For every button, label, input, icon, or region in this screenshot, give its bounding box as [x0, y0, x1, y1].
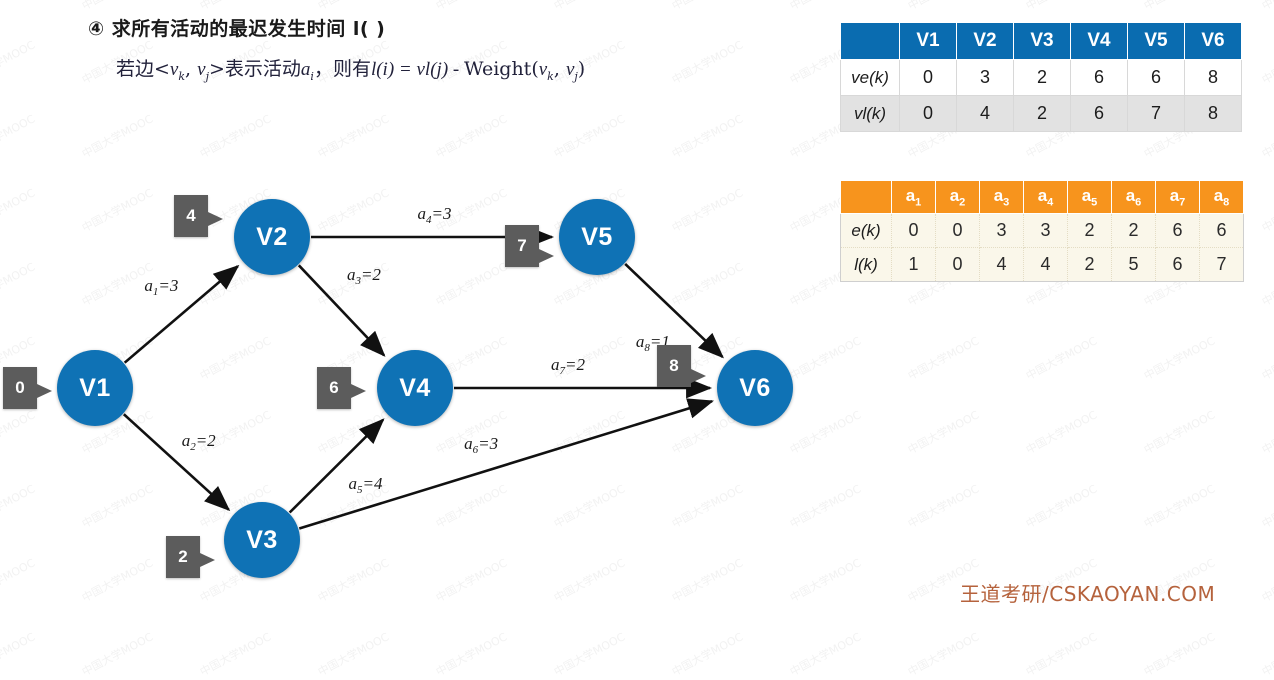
table-cell: 2: [1014, 60, 1071, 96]
table-cell: 4: [980, 248, 1024, 282]
table-cell: 0: [936, 248, 980, 282]
table-ve-vl-col-v2: V2: [957, 23, 1014, 60]
graph-badge-value: 2: [178, 547, 187, 567]
graph-node-label: V2: [256, 223, 288, 252]
graph-edge-label-a3: a3=2: [347, 265, 381, 287]
table-cell: 0: [900, 96, 957, 132]
table-e-l-col-a5: a5: [1068, 181, 1112, 214]
watermark-text: 中国大学MOOC: [1023, 333, 1100, 384]
table-e-l-body: e(k)00332266l(k)10442567: [841, 214, 1244, 282]
watermark-text: 中国大学MOOC: [1023, 481, 1100, 532]
table-e-l-col-a2: a2: [936, 181, 980, 214]
watermark-text: 中国大学MOOC: [0, 629, 38, 680]
edge-label-weight: =3: [432, 204, 452, 223]
table-row: ve(k)032668: [841, 60, 1242, 96]
edge-label-name: a: [636, 332, 645, 351]
formula-weight: Weight(: [464, 58, 539, 80]
branding-text: 王道考研/CSKAOYAN.COM: [960, 578, 1215, 607]
formula-j: (j) -: [430, 59, 464, 80]
watermark-text: 中国大学MOOC: [787, 629, 864, 680]
col-sub: 6: [1135, 196, 1141, 208]
formula-i: (i) =: [376, 59, 416, 80]
table-ve-vl-rowhead: ve(k): [841, 60, 900, 96]
formula-w-v1: v: [539, 59, 547, 80]
edge-label-name: a: [182, 431, 191, 450]
table-cell: 0: [936, 214, 980, 248]
edge-label-weight: =2: [196, 431, 216, 450]
graph-badge-value: 7: [517, 236, 526, 256]
table-ve-vl-corner: [841, 23, 900, 60]
edge-label-weight: =2: [361, 265, 381, 284]
table-ve-vl-col-v6: V6: [1185, 23, 1242, 60]
graph-badge-v4: 6: [317, 367, 351, 409]
table-e-l-col-a1: a1: [892, 181, 936, 214]
formula-a: a: [301, 59, 311, 80]
graph-edge-label-a6: a6=3: [464, 434, 498, 456]
edge-label-name: a: [349, 474, 358, 493]
graph-node-v1[interactable]: V1: [57, 350, 133, 426]
watermark-text: 中国大学MOOC: [905, 0, 982, 13]
watermark-text: 中国大学MOOC: [1023, 629, 1100, 680]
table-cell: 6: [1128, 60, 1185, 96]
watermark-text: 中国大学MOOC: [1141, 407, 1218, 458]
table-ve-vl-col-v4: V4: [1071, 23, 1128, 60]
formula-vj: v: [197, 59, 205, 80]
graph-edge-label-a2: a2=2: [182, 431, 216, 453]
edge-label-name: a: [464, 434, 473, 453]
graph-node-v3[interactable]: V3: [224, 502, 300, 578]
table-row: e(k)00332266: [841, 214, 1244, 248]
graph-edge-a2: [124, 414, 229, 509]
col-base: a: [994, 186, 1003, 205]
col-sub: 3: [1003, 196, 1009, 208]
heading-block: ④ 求所有活动的最迟发生时间 l( ) 若边<vk, vj>表示活动ai，则有l…: [88, 14, 585, 83]
table-cell: 6: [1200, 214, 1244, 248]
edge-label-name: a: [144, 275, 153, 294]
table-cell: 6: [1156, 214, 1200, 248]
table-cell: 6: [1156, 248, 1200, 282]
table-ve-vl: V1V2V3V4V5V6 ve(k)032668vl(k)042678: [840, 22, 1242, 132]
table-e-l-col-a8: a8: [1200, 181, 1244, 214]
table-cell: 1: [892, 248, 936, 282]
formula-w-sep: ,: [554, 58, 566, 80]
table-ve-vl-head: V1V2V3V4V5V6: [841, 23, 1242, 60]
formula-comma: ,: [185, 58, 197, 80]
col-sub: 8: [1223, 196, 1229, 208]
watermark-text: 中国大学MOOC: [1023, 0, 1100, 13]
formula-prefix: 若边<: [116, 58, 170, 80]
watermark-text: 中国大学MOOC: [1259, 555, 1274, 606]
watermark-text: 中国大学MOOC: [1141, 481, 1218, 532]
watermark-text: 中国大学MOOC: [905, 407, 982, 458]
table-cell: 4: [1024, 248, 1068, 282]
formula-w-v1-sub: k: [547, 70, 554, 83]
table-cell: 3: [980, 214, 1024, 248]
watermark-text: 中国大学MOOC: [905, 333, 982, 384]
watermark-text: 中国大学MOOC: [315, 629, 392, 680]
edge-label-name: a: [418, 204, 427, 223]
watermark-text: 中国大学MOOC: [1259, 37, 1274, 88]
watermark-text: 中国大学MOOC: [905, 629, 982, 680]
col-sub: 1: [915, 196, 921, 208]
graph-node-label: V4: [399, 374, 431, 403]
watermark-text: 中国大学MOOC: [1141, 333, 1218, 384]
col-sub: 7: [1179, 196, 1185, 208]
watermark-text: 中国大学MOOC: [1259, 0, 1274, 13]
page-title: ④ 求所有活动的最迟发生时间 l( ): [88, 14, 585, 41]
table-ve-vl-body: ve(k)032668vl(k)042678: [841, 60, 1242, 132]
graph-badge-v5: 7: [505, 225, 539, 267]
watermark-text: 中国大学MOOC: [669, 629, 746, 680]
graph-badge-v2: 4: [174, 195, 208, 237]
graph-node-label: V5: [581, 223, 613, 252]
watermark-text: 中国大学MOOC: [1259, 185, 1274, 236]
watermark-text: 中国大学MOOC: [1259, 407, 1274, 458]
table-cell: 8: [1185, 96, 1242, 132]
table-cell: 7: [1200, 248, 1244, 282]
graph-edge-a6: [299, 401, 712, 528]
watermark-text: 中国大学MOOC: [1259, 259, 1274, 310]
aoe-network-graph: V1V2V3V4V5V6 042678 a1=3a2=2a3=2a4=3a5=4…: [0, 0, 830, 632]
col-base: a: [1170, 186, 1179, 205]
watermark-text: 中国大学MOOC: [1141, 0, 1218, 13]
table-cell: 4: [957, 96, 1014, 132]
col-base: a: [1214, 186, 1223, 205]
table-cell: 3: [957, 60, 1014, 96]
watermark-text: 中国大学MOOC: [1259, 111, 1274, 162]
table-ve-vl-col-v3: V3: [1014, 23, 1071, 60]
graph-badge-value: 4: [186, 206, 195, 226]
graph-edge-label-a1: a1=3: [144, 275, 178, 297]
table-row: l(k)10442567: [841, 248, 1244, 282]
watermark-text: 中国大学MOOC: [905, 481, 982, 532]
table-cell: 3: [1024, 214, 1068, 248]
graph-node-v5[interactable]: V5: [559, 199, 635, 275]
watermark-text: 中国大学MOOC: [79, 629, 156, 680]
graph-node-label: V3: [246, 526, 278, 555]
table-ve-vl-col-v5: V5: [1128, 23, 1185, 60]
watermark-text: 中国大学MOOC: [1259, 629, 1274, 680]
table-e-l-corner: [841, 181, 892, 214]
watermark-text: 中国大学MOOC: [1141, 629, 1218, 680]
graph-badge-value: 6: [329, 378, 338, 398]
table-cell: 2: [1112, 214, 1156, 248]
table-cell: 7: [1128, 96, 1185, 132]
table-cell: 2: [1068, 214, 1112, 248]
table-e-l-col-a6: a6: [1112, 181, 1156, 214]
edge-label-weight: =3: [478, 434, 498, 453]
formula-then: ，则有: [314, 58, 371, 80]
table-ve-vl-col-v1: V1: [900, 23, 957, 60]
graph-edges-svg: [0, 0, 830, 632]
table-e-l-col-a4: a4: [1024, 181, 1068, 214]
formula-vl: vl: [417, 59, 431, 80]
table-e-l-rowhead: l(k): [841, 248, 892, 282]
table-cell: 8: [1185, 60, 1242, 96]
graph-node-v2[interactable]: V2: [234, 199, 310, 275]
formula-close: ): [578, 58, 585, 80]
edge-label-weight: =4: [363, 474, 383, 493]
watermark-text: 中国大学MOOC: [1259, 481, 1274, 532]
edge-label-name: a: [551, 355, 560, 374]
table-e-l-head: a1a2a3a4a5a6a7a8: [841, 181, 1244, 214]
edge-label-weight: =3: [158, 275, 178, 294]
col-base: a: [1082, 186, 1091, 205]
col-base: a: [906, 186, 915, 205]
graph-badge-value: 0: [15, 378, 24, 398]
graph-node-v4[interactable]: V4: [377, 350, 453, 426]
formula-mid: >表示活动: [209, 58, 301, 80]
table-cell: 5: [1112, 248, 1156, 282]
table-cell: 6: [1071, 60, 1128, 96]
graph-edge-label-a5: a5=4: [349, 474, 383, 496]
col-base: a: [1038, 186, 1047, 205]
table-cell: 0: [892, 214, 936, 248]
graph-edge-a5: [290, 420, 383, 513]
graph-badge-v6: 8: [657, 345, 691, 387]
graph-node-label: V6: [739, 374, 771, 403]
table-row: vl(k)042678: [841, 96, 1242, 132]
table-cell: 6: [1071, 96, 1128, 132]
table-e-l-col-a7: a7: [1156, 181, 1200, 214]
watermark-text: 中国大学MOOC: [197, 629, 274, 680]
watermark-text: 中国大学MOOC: [433, 629, 510, 680]
watermark-text: 中国大学MOOC: [1259, 333, 1274, 384]
graph-edge-a1: [125, 266, 238, 362]
watermark-text: 中国大学MOOC: [1023, 407, 1100, 458]
table-e-l: a1a2a3a4a5a6a7a8 e(k)00332266l(k)1044256…: [840, 180, 1244, 282]
table-ve-vl-rowhead: vl(k): [841, 96, 900, 132]
table-e-l-col-a3: a3: [980, 181, 1024, 214]
graph-node-label: V1: [79, 374, 111, 403]
edge-label-name: a: [347, 265, 356, 284]
table-e-l-rowhead: e(k): [841, 214, 892, 248]
table-cell: 0: [900, 60, 957, 96]
table-row: a1a2a3a4a5a6a7a8: [841, 181, 1244, 214]
table-cell: 2: [1068, 248, 1112, 282]
col-sub: 5: [1091, 196, 1097, 208]
graph-badge-v3: 2: [166, 536, 200, 578]
graph-badge-v1: 0: [3, 367, 37, 409]
col-base: a: [1126, 186, 1135, 205]
graph-edge-label-a7: a7=2: [551, 355, 585, 377]
graph-edge-label-a4: a4=3: [418, 204, 452, 226]
table-row: V1V2V3V4V5V6: [841, 23, 1242, 60]
graph-badge-value: 8: [669, 356, 678, 376]
watermark-text: 中国大学MOOC: [551, 629, 628, 680]
col-base: a: [950, 186, 959, 205]
col-sub: 2: [959, 196, 965, 208]
col-sub: 4: [1047, 196, 1053, 208]
formula-line: 若边<vk, vj>表示活动ai，则有l(i) = vl(j) - Weight…: [116, 54, 585, 83]
table-cell: 2: [1014, 96, 1071, 132]
graph-node-v6[interactable]: V6: [717, 350, 793, 426]
edge-label-weight: =2: [565, 355, 585, 374]
